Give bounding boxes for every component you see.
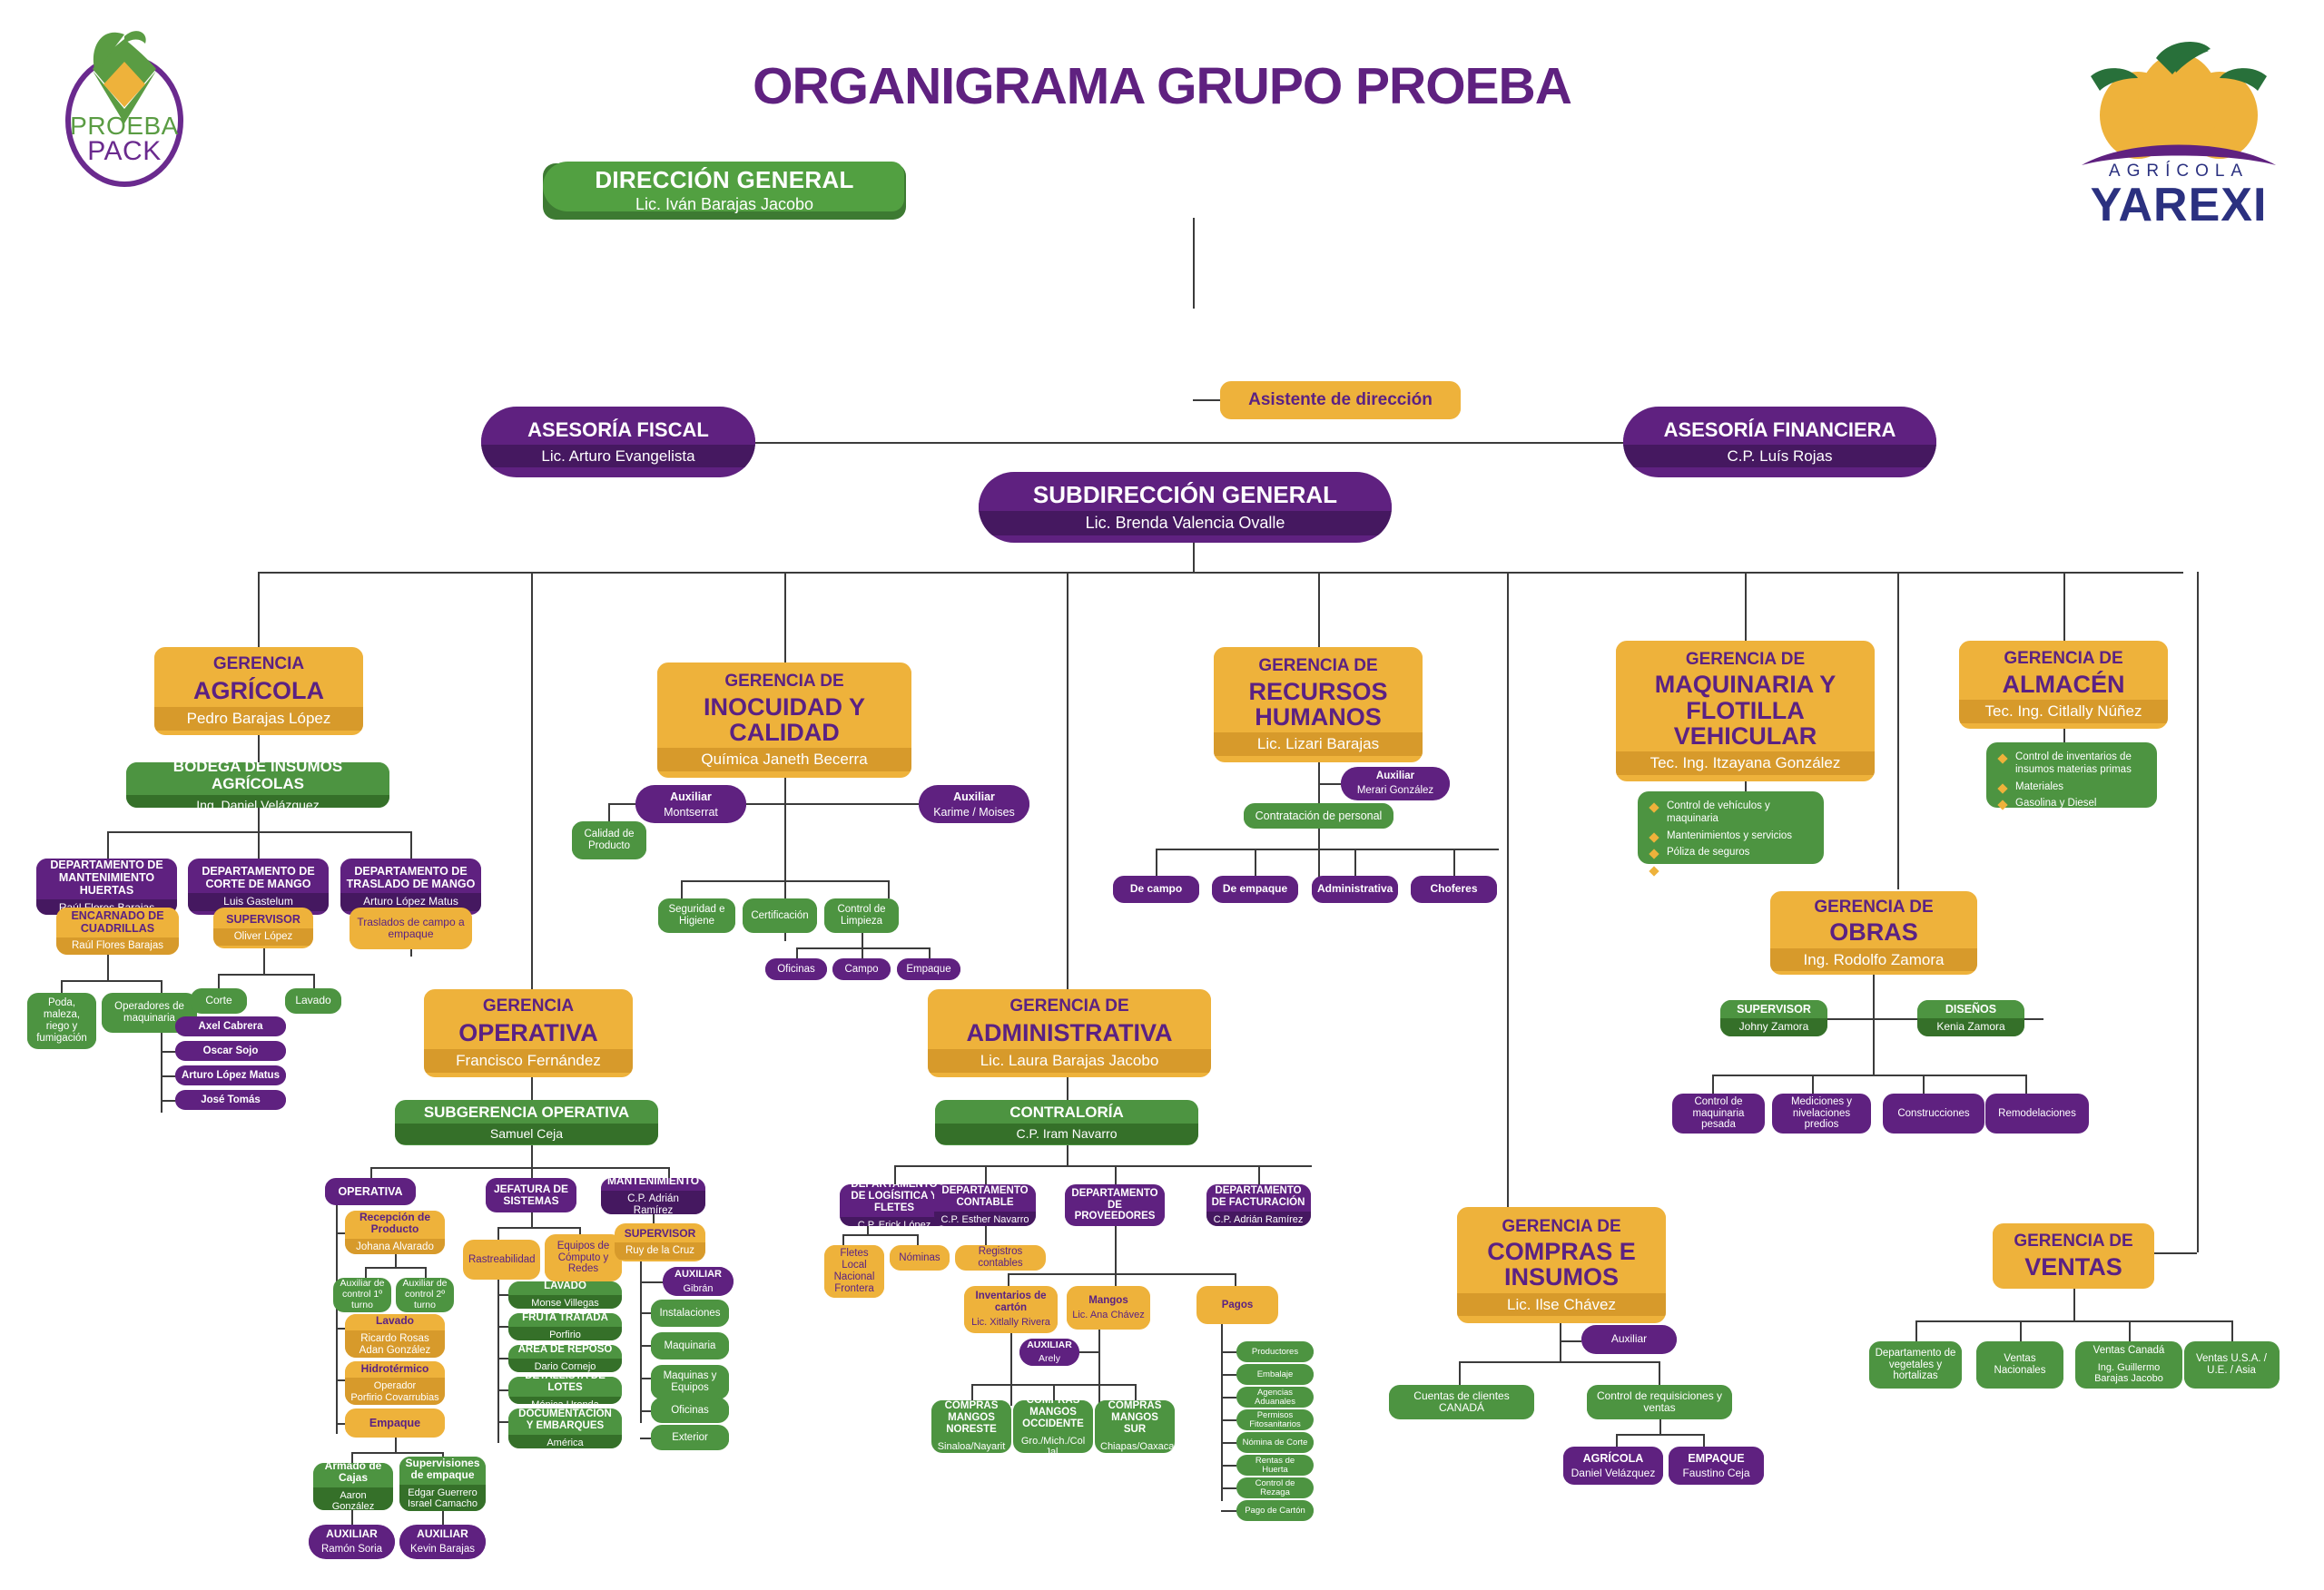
sistemas-item[interactable]: DETALLISTA DE LOTESMónica Urenda [508,1377,622,1404]
gerencia-maquinaria-line2: MAQUINARIA Y FLOTILLA VEHICULAR [1616,672,1875,751]
compras-mangos-item-title: COMPRAS MANGOS SUR [1095,1400,1175,1438]
gerencia-obras-node[interactable]: GERENCIA DE OBRAS Ing. Rodolfo Zamora [1770,891,1977,975]
connector [1897,572,1899,889]
obras-item[interactable]: Mediciones y nivelaciones predios [1772,1094,1871,1134]
connector [608,803,610,823]
almacen-bullets-box: Control de inventarios de insumos materi… [1986,742,2157,808]
mantenimiento-item[interactable]: Exterior [651,1425,729,1450]
gerencia-compras-person: Lic. Ilse Chávez [1457,1293,1666,1317]
asistente-direccion-node[interactable]: Asistente de dirección [1220,381,1461,419]
mant-supervisor-node[interactable]: SUPERVISOR Ruy de la Cruz [615,1223,705,1261]
poda-maleza-node[interactable]: Poda, maleza, riego y fumigación [27,993,96,1049]
corte-label: Corte [191,992,247,1009]
ventas-item-title: Ventas Canadá [2075,1342,2182,1359]
direccion-general-title: DIRECCIÓN GENERAL [595,166,853,194]
obras-item-title: Construcciones [1883,1105,1984,1123]
connector [531,572,533,996]
gerencia-inocuidad-node[interactable]: GERENCIA DE INOCUIDAD Y CALIDAD Química … [657,662,911,778]
rastreabilidad-node[interactable]: Rastreabilidad [463,1240,540,1280]
gerencia-obras-person: Ing. Rodolfo Zamora [1770,948,1977,972]
inocuidad-aux-karime-title: Auxiliar [919,788,1029,806]
pagos-item[interactable]: Embalaje [1236,1364,1314,1385]
connector [640,1410,651,1412]
connector [218,974,220,988]
mant-supervisor-person: Ruy de la Cruz [615,1242,705,1260]
operativa-empaque-node[interactable]: Empaque [345,1408,445,1438]
connector [681,880,888,882]
connector [313,974,315,988]
connector [1008,1273,1009,1286]
dept-facturacion[interactable]: DEPARTAMENTO DE FACTURACIÓNC.P. Adrián R… [1206,1184,1311,1226]
inocuidad-aux-montserrat-node[interactable]: Auxiliar Montserrat [635,785,746,823]
asesoria-fiscal-node[interactable]: ASESORÍA FISCAL Lic. Arturo Evangelista [481,407,755,477]
recepcion-producto-node[interactable]: Recepción de Producto Johana Alvarado [345,1211,445,1254]
compras-mangos-item-person: Chiapas/Oaxaca [1095,1438,1175,1453]
ventas-item[interactable]: Departamento de vegetales y hortalizas [1869,1341,1962,1389]
gerencia-maquinaria-node[interactable]: GERENCIA DE MAQUINARIA Y FLOTILLA VEHICU… [1616,641,1875,781]
connector [842,1234,844,1245]
connector [894,1165,1312,1167]
connector [61,980,63,993]
ventas-item[interactable]: Ventas Nacionales [1976,1341,2063,1389]
sistemas-item-person: Mónica Urenda [508,1397,622,1404]
subgerencia-operativa-person: Samuel Ceja [395,1124,658,1143]
connector [1067,1145,1068,1165]
connector [1067,572,1068,989]
operativa-lavado-person: Ricardo Rosas Adan González [345,1330,445,1359]
supervisor-corte-node[interactable]: SUPERVISOR Oliver López [213,908,313,948]
subgerencia-operativa-title: SUBGERENCIA OPERATIVA [395,1101,658,1124]
connector [2197,572,2199,1252]
equipos-computo-label: Equipos de Cómputo y Redes [545,1238,622,1279]
jefatura-sistemas-node[interactable]: JEFATURA DE SISTEMAS [486,1178,576,1212]
connector [1745,572,1747,641]
auxiliar-ramon-person: Ramón Soria [309,1544,395,1558]
inventarios-carton-node[interactable]: Inventarios de cartón Lic. Xitlally Rive… [964,1286,1058,1333]
connector [2073,1289,2075,1320]
bodega-insumos-title: BODEGA DE INSUMOS AGRÍCOLAS [126,762,389,795]
hidrotermico-title: Hidrotérmico [345,1361,445,1378]
control-requisiciones-label: Control de requisiciones y ventas [1587,1388,1732,1418]
dept-mantenimiento-huertas-title: DEPARTAMENTO DE MANTENIMIENTO HUERTAS [36,859,177,899]
gerencia-rrhh-line2: RECURSOS HUMANOS [1214,679,1423,733]
poda-maleza-label: Poda, maleza, riego y fumigación [27,995,96,1047]
bodega-insumos-node[interactable]: BODEGA DE INSUMOS AGRÍCOLAS Ing. Daniel … [126,762,389,808]
gerencia-compras-line2: COMPRAS E INSUMOS [1457,1239,1666,1293]
obras-item[interactable]: Construcciones [1883,1094,1984,1134]
compras-mangos-item-person: Sinaloa/Nayarit [931,1438,1011,1453]
mantenimiento-item[interactable]: Instalaciones [651,1300,729,1327]
connector [1156,849,1157,876]
corte-node[interactable]: Corte [191,988,247,1014]
inocuidad-aux-montserrat-title: Auxiliar [635,788,746,806]
ventas-item[interactable]: Ventas U.S.A. / U.E. / Asia [2184,1341,2280,1389]
connector [258,572,260,649]
connector [1098,1330,1100,1406]
pagos-item[interactable]: Nómina de Corte [1236,1432,1314,1453]
gerencia-operativa-line2: OPERATIVA [424,1019,633,1049]
connector [1235,1273,1236,1286]
auxiliar-kevin-title: AUXILIAR [399,1526,486,1543]
connector [971,1384,973,1400]
dept-logistica-fletes[interactable]: DEPARTAMENTO DE LOGÍSITICA Y FLETESC.P. … [840,1184,949,1226]
pagos-item[interactable]: Productores [1236,1341,1314,1362]
mantenimiento-item-title: Instalaciones [651,1305,729,1322]
connector [1193,543,1195,572]
pagos-item-title: Nómina de Corte [1236,1436,1314,1450]
supervisor-corte-title: SUPERVISOR [213,910,313,928]
maquinaria-bullet: Póliza de seguros [1649,847,1813,859]
dept-mantenimiento-huertas-node[interactable]: DEPARTAMENTO DE MANTENIMIENTO HUERTAS Ra… [36,859,177,915]
dept-facturacion-person: C.P. Adrián Ramírez [1206,1212,1311,1226]
connector [1873,975,1875,1075]
connector [395,1438,397,1452]
connector [640,1281,665,1283]
asesoria-fiscal-person: Lic. Arturo Evangelista [481,445,755,468]
operador-item[interactable]: Axel Cabrera [175,1016,286,1036]
contraloria-person: C.P. Iram Navarro [935,1124,1198,1143]
nominas-node[interactable]: Nóminas [890,1245,950,1271]
connector [1135,1384,1137,1400]
operador-item[interactable]: Arturo López Matus [175,1065,286,1085]
connector [497,1358,508,1359]
limpieza-empaque-label: Empaque [897,961,960,978]
compras-empaque-title: EMPAQUE [1669,1449,1764,1467]
obras-item-title: Mediciones y nivelaciones predios [1772,1094,1871,1134]
gerencia-almacen-person: Tec. Ing. Citlally Núñez [1959,700,2168,723]
rrhh-auxiliar-node[interactable]: Auxiliar Merari González [1341,767,1450,800]
obras-item[interactable]: Remodelaciones [1985,1094,2089,1134]
operativa-head-node[interactable]: OPERATIVA [325,1178,416,1205]
lavado-corte-label: Lavado [285,992,341,1009]
connector [1459,1361,1659,1363]
mant-auxiliar-person: Gibrán [663,1283,734,1297]
connector [1221,1465,1236,1467]
limpieza-campo-label: Campo [832,961,891,978]
rrhh-item[interactable]: De empaque [1212,876,1298,903]
auxiliar-control-2-node[interactable]: Auxiliar de control 2º turno [396,1278,454,1312]
page-title: ORGANIGRAMA GRUPO PROEBA [0,56,2324,116]
obras-supervisor-title: SUPERVISOR [1720,1000,1827,1018]
encargado-cuadrillas-node[interactable]: ENCARNADO DE CUADRILLAS Raúl Flores Bara… [56,908,179,955]
obras-item-title: Remodelaciones [1985,1105,2089,1123]
ventas-item-person: Ing. Guillermo Barajas Jacobo [2075,1359,2182,1388]
connector [442,1511,444,1525]
auxiliar-arely-node[interactable]: AUXILIAR Arely [1019,1339,1079,1366]
connector [1193,399,1220,401]
inventarios-carton-person: Lic. Xitlally Rivera [964,1317,1058,1330]
control-limpieza-label: Control de Limpieza [824,901,899,930]
dept-traslado-mango-title: DEPARTAMENTO DE TRASLADO DE MANGO [340,862,481,893]
lavado-corte-node[interactable]: Lavado [285,988,341,1014]
sistemas-item[interactable]: ÁREA DE REPOSODario Cornejo [508,1345,622,1372]
traslados-campo-empaque-node[interactable]: Traslados de campo a empaque [350,908,472,949]
rrhh-item[interactable]: Choferes [1411,876,1497,903]
contraloria-title: CONTRALORÍA [935,1101,1198,1124]
inocuidad-aux-karime-person: Karime / Moises [919,806,1029,821]
hidrotermico-node[interactable]: Hidrotérmico Operador Porfirio Covarrubi… [345,1361,445,1405]
connector [1221,1487,1236,1489]
rrhh-item-title: De campo [1113,880,1199,898]
mantenimiento-item[interactable]: Maquinas y Equipos [651,1365,729,1399]
asesoria-financiera-title: ASESORÍA FINANCIERA [1623,417,1936,445]
obras-supervisor-node[interactable]: SUPERVISOR Johny Zamora [1720,1000,1827,1036]
auxiliar-ramon-node[interactable]: AUXILIAR Ramón Soria [309,1525,395,1559]
gerencia-inocuidad-person: Química Janeth Becerra [657,748,911,771]
mangos-node[interactable]: Mangos Lic. Ana Chávez [1067,1286,1150,1330]
mantenimiento-item-title: Maquinaria [651,1338,729,1355]
obras-item[interactable]: Control de maquinaria pesada [1672,1094,1765,1134]
auxiliar-control-1-node[interactable]: Auxiliar de control 1º turno [333,1278,391,1312]
ventas-item[interactable]: Ventas CanadáIng. Guillermo Barajas Jaco… [2075,1341,2182,1389]
compras-empaque-node[interactable]: EMPAQUE Faustino Ceja [1669,1447,1764,1485]
asistente-direccion-label: Asistente de dirección [1220,388,1461,412]
subdireccion-general-title: SUBDIRECCIÓN GENERAL [979,479,1392,511]
connector [497,1421,508,1423]
compras-mangos-item[interactable]: COMPRAS MANGOS SURChiapas/Oaxaca [1095,1400,1175,1453]
calidad-producto-node[interactable]: Calidad de Producto [572,821,646,859]
gerencia-operativa-person: Francisco Fernández [424,1049,633,1073]
inventarios-carton-title: Inventarios de cartón [964,1288,1058,1317]
mantenimiento-item-title: Maquinas y Equipos [651,1368,729,1397]
sistemas-item-person: Monse Villegas [508,1295,622,1309]
gerencia-obras-line1: GERENCIA DE [1770,895,1977,919]
mantenimiento-item[interactable]: Maquinaria [651,1332,729,1359]
gerencia-administrativa-line2: ADMINISTRATIVA [928,1019,1211,1049]
connector [1156,849,1499,850]
sistemas-item-title: FRUTA TRATADA [508,1313,622,1327]
operador-item[interactable]: José Tomás [175,1090,286,1110]
dept-contable-person: C.P. Esther Navarro [934,1212,1036,1226]
connector [1354,849,1356,876]
gerencia-administrativa-person: Lic. Laura Barajas Jacobo [928,1049,1211,1073]
pagos-node[interactable]: Pagos [1196,1286,1278,1324]
connector [2063,572,2065,641]
bodega-insumos-person: Ing. Daniel Velázquez [126,795,389,808]
gerencia-agricola-person: Pedro Barajas López [154,707,363,731]
registros-contables-node[interactable]: Registros contables [955,1245,1046,1271]
auxiliar-kevin-person: Kevin Barajas [399,1544,486,1558]
auxiliar-control-1-label: Auxiliar de control 1º turno [333,1278,391,1312]
armado-cajas-person: Aaron González [313,1487,393,1510]
connector [425,1267,427,1278]
connector [796,947,798,958]
compras-agricola-title: AGRÍCOLA [1563,1449,1663,1467]
equipos-computo-node[interactable]: Equipos de Cómputo y Redes [545,1234,622,1281]
pagos-label: Pagos [1196,1297,1278,1314]
sistemas-item-title: ÁREA DE REPOSO [508,1345,622,1359]
gerencia-agricola-line1: GERENCIA [154,652,363,676]
mant-auxiliar-node[interactable]: AUXILIAR Gibrán [663,1267,734,1296]
connector [370,1167,668,1169]
supervisiones-empaque-person: Edgar Guerrero Israel Camacho [399,1485,486,1511]
dept-corte-mango-node[interactable]: DEPARTAMENTO DE CORTE DE MANGO Luis Gast… [188,859,329,915]
pagos-item[interactable]: Permisos Fitosanitarios [1236,1409,1314,1430]
fletes-node[interactable]: Fletes Local Nacional Frontera [824,1245,884,1298]
limpieza-oficinas-label: Oficinas [765,961,827,978]
gerencia-administrativa-node[interactable]: GERENCIA DE ADMINISTRATIVA Lic. Laura Ba… [928,989,1211,1077]
gerencia-compras-node[interactable]: GERENCIA DE COMPRAS E INSUMOS Lic. Ilse … [1457,1207,1666,1323]
gerencia-almacen-line1: GERENCIA DE [1959,646,2168,671]
encargado-cuadrillas-title: ENCARNADO DE CUADRILLAS [56,908,179,937]
subgerencia-operativa-node[interactable]: SUBGERENCIA OPERATIVA Samuel Ceja [395,1100,658,1145]
connector [497,1389,508,1391]
limpieza-campo-node[interactable]: Campo [832,958,891,980]
sistemas-item[interactable]: DOCUMENTACIÓN Y EMBARQUESAmérica [508,1408,622,1448]
connector [1221,1510,1236,1512]
connector [917,1234,919,1245]
rastreabilidad-label: Rastreabilidad [463,1251,540,1269]
sistemas-item[interactable]: FRUTA TRATADAPorfirio [508,1313,622,1340]
rrhh-auxiliar-title: Auxiliar [1341,768,1450,785]
sistemas-item[interactable]: LAVADOMonse Villegas [508,1281,622,1309]
compras-mangos-item[interactable]: COMPRAS MANGOS OCCIDENTEGro./Mich./Col J… [1013,1400,1093,1453]
dept-contable-title: DEPARTAMENTO CONTABLE [934,1184,1036,1212]
obras-disenos-node[interactable]: DISEÑOS Kenia Zamora [1917,1000,2024,1036]
compras-agricola-node[interactable]: AGRÍCOLA Daniel Velázquez [1563,1447,1663,1485]
connector [1507,572,1509,1234]
nominas-label: Nóminas [890,1250,950,1267]
connector [1616,1434,1703,1436]
pagos-item[interactable]: Pago de Cartón [1236,1500,1314,1521]
contraloria-node[interactable]: CONTRALORÍA C.P. Iram Navarro [935,1100,1198,1145]
registros-contables-label: Registros contables [955,1245,1046,1271]
gerencia-administrativa-line1: GERENCIA DE [928,994,1211,1018]
pagos-item[interactable]: Control de Rezaga [1236,1477,1314,1498]
rrhh-item[interactable]: De campo [1113,876,1199,903]
sistemas-item-title: LAVADO [508,1281,622,1295]
mant-auxiliar-title: AUXILIAR [663,1267,734,1283]
auxiliar-kevin-node[interactable]: AUXILIAR Kevin Barajas [399,1525,486,1559]
gerencia-rrhh-line1: GERENCIA DE [1214,653,1423,678]
dept-proveedores-title: DEPARTAMENTO DE PROVEEDORES [1065,1185,1165,1226]
connector [1915,1320,2231,1322]
connector [497,1326,508,1328]
operador-item[interactable]: Oscar Sojo [175,1041,286,1061]
connector [410,831,412,859]
mantenimiento-item-title: Exterior [651,1429,729,1447]
cuentas-clientes-canada-label: Cuentas de clientes CANADÁ [1389,1388,1534,1418]
connector [888,880,890,898]
obras-item-title: Control de maquinaria pesada [1672,1094,1765,1134]
contratacion-personal-label: Contratación de personal [1244,807,1393,825]
seguridad-higiene-node[interactable]: Seguridad e Higiene [658,898,735,933]
connector [1053,1384,1055,1400]
connector [640,1345,651,1347]
connector [107,831,109,859]
operativa-lavado-node[interactable]: Lavado Ricardo Rosas Adan González [345,1314,445,1358]
certificacion-node[interactable]: Certificación [743,898,817,933]
operativa-lavado-title: Lavado [345,1314,445,1330]
rrhh-item-title: Choferes [1411,880,1497,898]
obras-disenos-title: DISEÑOS [1917,1000,2024,1018]
connector [161,1051,175,1053]
operador-item-title: José Tomás [175,1092,286,1109]
rrhh-item-title: De empaque [1212,880,1298,898]
connector [107,955,109,980]
connector [497,1227,499,1240]
auxiliar-ramon-title: AUXILIAR [309,1526,395,1543]
gerencia-ventas-node[interactable]: GERENCIA DE VENTAS [1993,1223,2154,1289]
rrhh-item[interactable]: Administrativa [1312,876,1398,903]
maquinaria-bullet: Refacciones [1649,864,1813,877]
yarexi-word: YAREXI [2033,178,2324,232]
connector [1560,1340,1581,1342]
mangos-title: Mangos [1067,1292,1150,1310]
fletes-label: Fletes Local Nacional Frontera [824,1245,884,1298]
operador-item-title: Arturo López Matus [175,1067,286,1085]
connector [161,1075,175,1077]
inocuidad-aux-montserrat-person: Montserrat [635,806,746,821]
connector [351,1510,353,1525]
pagos-item[interactable]: Rentas de Huerta [1236,1455,1314,1476]
gerencia-agricola-node[interactable]: GERENCIA AGRÍCOLA Pedro Barajas López [154,647,363,735]
mantenimiento-node[interactable]: MANTENIMIENTO C.P. Adrián Ramírez [601,1178,705,1214]
sistemas-item-person: Dario Cornejo [508,1359,622,1372]
connector [862,933,863,947]
connector [1453,849,1455,876]
pagos-item-title: Permisos Fitosanitarios [1236,1409,1314,1430]
limpieza-oficinas-node[interactable]: Oficinas [765,958,827,980]
gerencia-almacen-line2: ALMACÉN [1959,672,2168,700]
almacen-bullet: Control de inventarios de insumos materi… [1997,751,2146,777]
asesoria-financiera-node[interactable]: ASESORÍA FINANCIERA C.P. Luís Rojas [1623,407,1936,477]
gerencia-operativa-node[interactable]: GERENCIA OPERATIVA Francisco Fernández [424,989,633,1077]
subdireccion-general-node[interactable]: SUBDIRECCIÓN GENERAL Lic. Brenda Valenci… [979,472,1392,543]
control-requisiciones-node[interactable]: Control de requisiciones y ventas [1587,1385,1732,1419]
compras-agricola-person: Daniel Velázquez [1563,1467,1663,1482]
supervisor-corte-person: Oliver López [213,928,313,946]
pagos-item-title: Control de Rezaga [1236,1477,1314,1498]
rrhh-item-title: Administrativa [1312,880,1398,898]
contratacion-personal-node[interactable]: Contratación de personal [1244,803,1393,829]
cuentas-clientes-canada-node[interactable]: Cuentas de clientes CANADÁ [1389,1385,1534,1419]
dept-logistica-fletes-person: C.P. Erick López [840,1217,949,1226]
gerencia-ventas-line2: VENTAS [1993,1253,2154,1283]
connector [258,572,2183,574]
compras-auxiliar-node[interactable]: Auxiliar [1581,1325,1677,1354]
connector [1221,1374,1236,1376]
connector [640,1438,651,1439]
limpieza-empaque-node[interactable]: Empaque [897,958,960,980]
control-limpieza-node[interactable]: Control de Limpieza [824,898,899,933]
dept-logistica-fletes-title: DEPARTAMENTO DE LOGÍSITICA Y FLETES [840,1184,949,1217]
connector [929,947,931,958]
connector [61,980,161,982]
gerencia-rrhh-node[interactable]: GERENCIA DE RECURSOS HUMANOS Lic. Lizari… [1214,647,1423,762]
sistemas-item-title: DETALLISTA DE LOTES [508,1377,622,1397]
armado-cajas-node[interactable]: Armado de Cajas Aaron González [313,1463,393,1510]
connector [862,947,863,958]
gerencia-almacen-node[interactable]: GERENCIA DE ALMACÉN Tec. Ing. Citlally N… [1959,641,2168,729]
hidrotermico-person: Operador Porfirio Covarrubias [345,1378,445,1405]
dept-proveedores[interactable]: DEPARTAMENTO DE PROVEEDORES [1065,1184,1165,1226]
mantenimiento-item[interactable]: Oficinas [651,1398,729,1423]
supervisiones-empaque-title: Supervisiones de empaque [399,1457,486,1485]
pagos-item[interactable]: Agencias Aduanales [1236,1387,1314,1408]
compras-mangos-item[interactable]: COMPRAS MANGOS NORESTESinaloa/Nayarit [931,1400,1011,1453]
compras-auxiliar-label: Auxiliar [1581,1330,1677,1348]
dept-traslado-mango-node[interactable]: DEPARTAMENTO DE TRASLADO DE MANGO Arturo… [340,859,481,915]
inocuidad-aux-karime-node[interactable]: Auxiliar Karime / Moises [919,785,1029,823]
connector [263,948,265,974]
connector [1008,1273,1235,1275]
dept-corte-mango-title: DEPARTAMENTO DE CORTE DE MANGO [188,862,329,893]
supervisiones-empaque-node[interactable]: Supervisiones de empaque Edgar Guerrero … [399,1457,486,1511]
dept-contable[interactable]: DEPARTAMENTO CONTABLEC.P. Esther Navarro [934,1184,1036,1226]
certificacion-label: Certificación [743,908,817,925]
auxiliar-arely-title: AUXILIAR [1019,1339,1079,1354]
